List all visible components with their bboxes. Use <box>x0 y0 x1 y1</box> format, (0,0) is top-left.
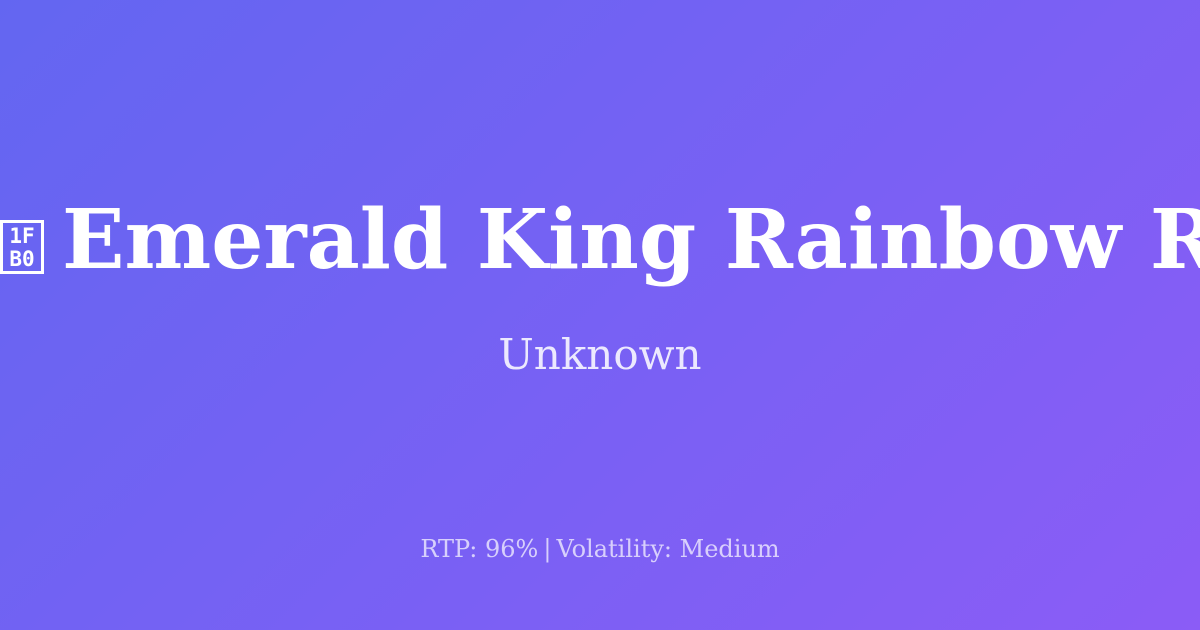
og-share-card: 1FB0Emerald King Rainbow Road Unknown RT… <box>0 0 1200 630</box>
slot-machine-emoji: 1FB0 <box>0 194 44 287</box>
page-title-text: Emerald King Rainbow Road <box>62 192 1200 288</box>
card-subtitle: Unknown <box>498 330 701 380</box>
volatility-value: Medium <box>680 535 780 563</box>
rtp-value: 96% <box>485 535 538 563</box>
card-content: 1FB0Emerald King Rainbow Road Unknown <box>0 194 1200 380</box>
card-meta-line: RTP: 96%|Volatility: Medium <box>0 535 1200 564</box>
meta-separator: | <box>538 535 556 563</box>
tofu-codepoint-bottom: B0 <box>3 248 41 270</box>
volatility-label: Volatility: <box>556 535 672 563</box>
page-title: 1FB0Emerald King Rainbow Road <box>0 194 1200 287</box>
rtp-label: RTP: <box>420 535 477 563</box>
tofu-missing-glyph-box: 1FB0 <box>0 220 44 274</box>
tofu-codepoint-top: 1F <box>3 225 41 247</box>
